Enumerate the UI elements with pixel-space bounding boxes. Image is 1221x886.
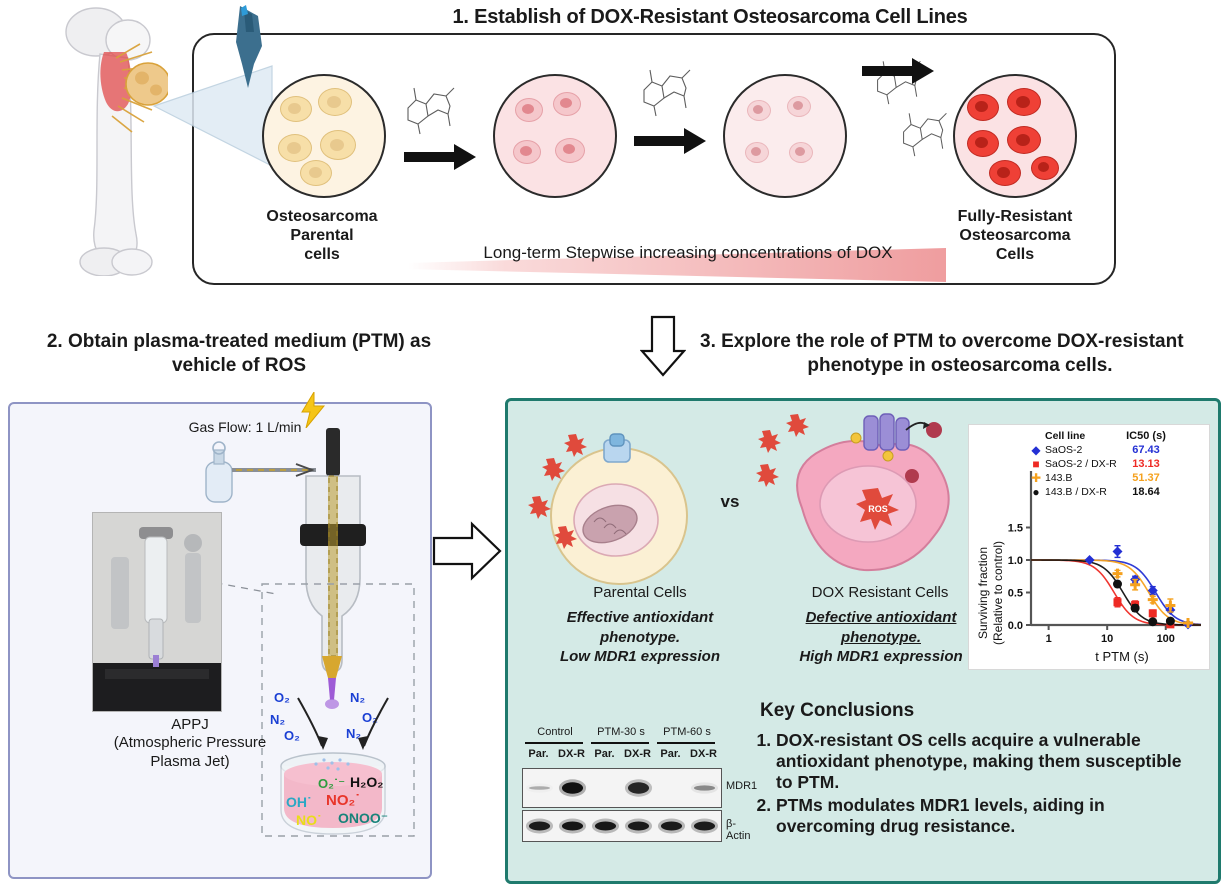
desc-line: phenotype. bbox=[505, 628, 775, 648]
legend-series-name: 143.B bbox=[1043, 472, 1125, 484]
vs-divider-label: vs bbox=[690, 492, 770, 512]
cell-dish-parental bbox=[262, 74, 386, 198]
data-point bbox=[1112, 547, 1122, 557]
blot-group-header: Control bbox=[522, 726, 588, 738]
legend-row: ●143.B / DX-R18.64 bbox=[1029, 485, 1167, 499]
appj-caption-line: Plasma Jet) bbox=[70, 753, 310, 771]
panel3-title-line: phenotype in osteosarcoma cells. bbox=[700, 354, 1220, 378]
legend-marker-icon: ● bbox=[1029, 486, 1043, 498]
x-tick-label: 100 bbox=[1157, 633, 1175, 645]
blot-band bbox=[529, 786, 550, 790]
legend-series-name: 143.B / DX-R bbox=[1043, 486, 1125, 498]
data-point bbox=[1131, 604, 1140, 613]
y-axis-sublabel: (Relative to control) bbox=[991, 541, 1005, 645]
data-point bbox=[1149, 609, 1157, 617]
legend-ic50-value: 18.64 bbox=[1125, 486, 1167, 498]
progression-arrow bbox=[862, 56, 936, 86]
label-line: Parental bbox=[232, 227, 412, 246]
legend-marker-icon: ◆ bbox=[1029, 444, 1043, 456]
ros-label-hydroxyl: OH˙ bbox=[286, 794, 312, 810]
progression-arrow bbox=[634, 126, 708, 156]
legend-header-row: Cell lineIC50 (s) bbox=[1029, 429, 1167, 443]
legend-row: ◆SaOS-267.43 bbox=[1029, 443, 1167, 457]
cell-dish-mid-treated bbox=[723, 74, 847, 198]
blot-lane-label: Par. bbox=[654, 748, 687, 760]
blot-band bbox=[661, 822, 682, 831]
appj-photograph bbox=[92, 512, 222, 712]
flow-arrow-right bbox=[432, 520, 502, 582]
label-parental-cells: Osteosarcoma Parental cells bbox=[232, 208, 412, 265]
y-tick-label: 1.0 bbox=[1008, 555, 1023, 567]
data-point bbox=[1113, 580, 1122, 589]
y-tick-label: 0.5 bbox=[1008, 588, 1023, 600]
blot-band bbox=[628, 822, 649, 831]
resistant-cells-label: DOX Resistant Cells bbox=[760, 584, 1000, 601]
panel2-title: 2. Obtain plasma-treated medium (PTM) as… bbox=[4, 330, 474, 378]
key-conclusion-item: DOX-resistant OS cells acquire a vulnera… bbox=[776, 730, 1202, 793]
data-point bbox=[1130, 580, 1140, 590]
blot-band bbox=[628, 782, 649, 793]
data-point bbox=[1112, 569, 1122, 579]
legend-header-ic50: IC50 (s) bbox=[1125, 430, 1167, 442]
legend-ic50-value: 67.43 bbox=[1125, 444, 1167, 456]
dose-response-chart: 0.00.51.01.5110100t PTM (s)Surviving fra… bbox=[968, 424, 1210, 670]
blot-band bbox=[694, 785, 715, 790]
appj-caption-line: (Atmospheric Pressure bbox=[70, 734, 310, 752]
legend-ic50-value: 51.37 bbox=[1125, 472, 1167, 484]
flow-arrow-down bbox=[640, 315, 686, 377]
desc-line: Effective antioxidant bbox=[505, 608, 775, 628]
y-tick-label: 0.0 bbox=[1008, 620, 1023, 632]
western-blot: ControlPTM-30 sPTM-60 sPar.DX-RPar.DX-RP… bbox=[518, 726, 730, 848]
dox-gradient-label: Long-term Stepwise increasing concentrat… bbox=[408, 243, 968, 263]
x-tick-label: 1 bbox=[1046, 633, 1052, 645]
legend-marker-icon: ✚ bbox=[1029, 472, 1043, 484]
panel2-title-line: 2. Obtain plasma-treated medium (PTM) as bbox=[4, 330, 474, 354]
blot-lane-label: DX-R bbox=[621, 748, 654, 760]
panel3-title-line: 3. Explore the role of PTM to overcome D… bbox=[700, 330, 1220, 354]
blot-band bbox=[694, 822, 715, 831]
pipette-icon bbox=[228, 2, 274, 88]
blot-band bbox=[562, 782, 583, 793]
label-line: cells bbox=[232, 246, 412, 265]
blot-row-label: β-Actin bbox=[726, 818, 750, 842]
ros-label-no2: NO₂˙ bbox=[326, 792, 360, 809]
appj-caption: APPJ (Atmospheric Pressure Plasma Jet) bbox=[70, 716, 310, 771]
blot-panel bbox=[522, 768, 722, 808]
legend-header-cellline: Cell line bbox=[1043, 430, 1125, 442]
parental-cells-description: Effective antioxidant phenotype. Low MDR… bbox=[505, 608, 775, 667]
legend-ic50-value: 13.13 bbox=[1125, 458, 1167, 470]
legend-marker-icon: ■ bbox=[1029, 458, 1043, 470]
y-axis-label: Surviving fraction bbox=[976, 547, 990, 639]
blot-group-header: PTM-60 s bbox=[654, 726, 720, 738]
chart-legend: Cell lineIC50 (s)◆SaOS-267.43■SaOS-2 / D… bbox=[1029, 429, 1167, 499]
legend-row: ■SaOS-2 / DX-R13.13 bbox=[1029, 457, 1167, 471]
legend-series-name: SaOS-2 / DX-R bbox=[1043, 458, 1125, 470]
dox-resistant-cell-illustration: ROS bbox=[756, 412, 976, 592]
blot-lane-label: Par. bbox=[588, 748, 621, 760]
parental-cells-label: Parental Cells bbox=[520, 584, 760, 601]
blot-panel bbox=[522, 810, 722, 842]
blot-band bbox=[595, 822, 616, 831]
data-point bbox=[1148, 617, 1157, 626]
desc-line: Low MDR1 expression bbox=[505, 647, 775, 667]
panel3-title: 3. Explore the role of PTM to overcome D… bbox=[700, 330, 1220, 378]
label-line: Fully-Resistant bbox=[930, 208, 1100, 227]
blot-band bbox=[529, 822, 550, 831]
dox-molecule-icon bbox=[894, 104, 956, 158]
x-tick-label: 10 bbox=[1101, 633, 1113, 645]
ros-label-h2o2: H₂O₂ bbox=[350, 774, 383, 790]
legend-row: ✚143.B51.37 bbox=[1029, 471, 1167, 485]
blot-group-rule bbox=[591, 742, 649, 744]
blot-group-rule bbox=[657, 742, 715, 744]
dox-molecule-icon bbox=[398, 78, 464, 136]
dox-molecule-icon bbox=[634, 60, 700, 118]
data-point bbox=[1166, 617, 1175, 626]
panel2-title-line: vehicle of ROS bbox=[4, 354, 474, 378]
lightning-bolt-icon bbox=[300, 392, 326, 428]
cell-dish-early-treated bbox=[493, 74, 617, 198]
key-conclusions-title: Key Conclusions bbox=[760, 700, 1060, 722]
blot-lane-label: DX-R bbox=[687, 748, 720, 760]
blot-lane-label: Par. bbox=[522, 748, 555, 760]
ros-badge-text: ROS bbox=[868, 504, 888, 514]
blot-lane-label: DX-R bbox=[555, 748, 588, 760]
legend-series-name: SaOS-2 bbox=[1043, 444, 1125, 456]
data-point bbox=[1113, 598, 1121, 606]
ros-label-superoxide: O₂˙⁻ bbox=[318, 776, 345, 792]
key-conclusion-item: PTMs modulates MDR1 levels, aiding in ov… bbox=[776, 795, 1202, 837]
label-line: Osteosarcoma bbox=[232, 208, 412, 227]
ros-label-peroxynitrite: ONOO⁻ bbox=[338, 810, 388, 827]
progression-arrow bbox=[404, 142, 478, 172]
cell-dish-fully-resistant bbox=[953, 74, 1077, 198]
panel1-title: 1. Establish of DOX-Resistant Osteosarco… bbox=[260, 6, 1160, 29]
key-conclusions-list: DOX-resistant OS cells acquire a vulnera… bbox=[750, 730, 1202, 839]
parental-cell-illustration bbox=[524, 430, 714, 590]
appj-caption-line: APPJ bbox=[70, 716, 310, 734]
data-point bbox=[1183, 618, 1193, 628]
ros-label-no: NO˙ bbox=[296, 812, 322, 828]
y-tick-label: 1.5 bbox=[1008, 523, 1023, 535]
blot-group-rule bbox=[525, 742, 583, 744]
blot-group-header: PTM-30 s bbox=[588, 726, 654, 738]
x-axis-label: t PTM (s) bbox=[1095, 649, 1148, 664]
blot-band bbox=[562, 822, 583, 831]
